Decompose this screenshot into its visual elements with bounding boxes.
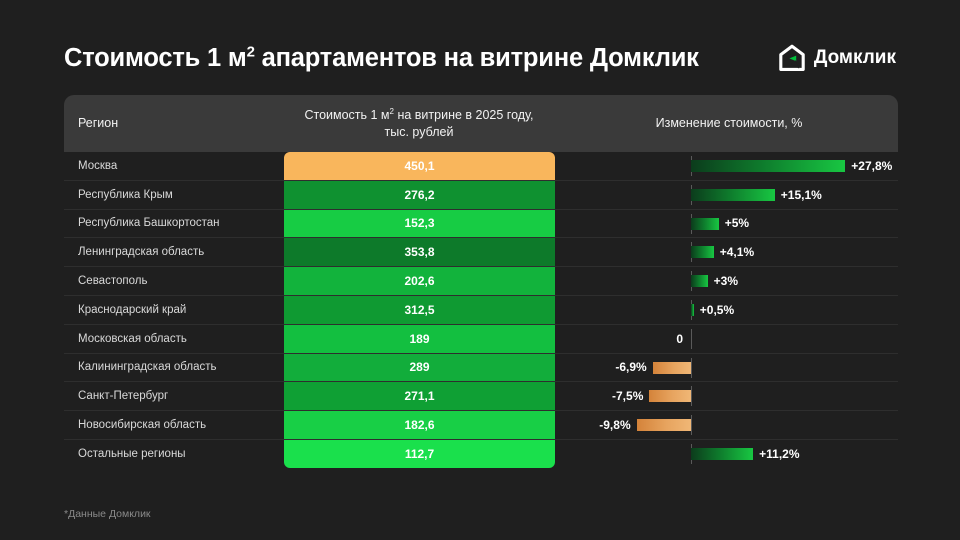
table-body: Москва450,1+27,8%Республика Крым276,2+15… — [64, 152, 898, 468]
cell-value: 450,1 — [284, 152, 555, 180]
brand-logo: Домклик — [778, 44, 896, 72]
page-title-prefix: Стоимость 1 м — [64, 44, 247, 72]
cell-region: Севастополь — [78, 267, 147, 295]
change-percent-label: 0 — [676, 325, 683, 353]
negative-change-bar — [637, 419, 691, 431]
table-row[interactable]: Севастополь202,6+3% — [64, 267, 898, 296]
cell-value: 182,6 — [284, 411, 555, 439]
change-percent-label: -6,9% — [615, 354, 646, 382]
column-header-change: Изменение стоимости, % — [564, 95, 894, 152]
column-header-value: Стоимость 1 м2 на витрине в 2025 году, т… — [284, 95, 554, 152]
cell-value: 271,1 — [284, 382, 555, 410]
positive-change-bar — [691, 160, 845, 172]
cell-value: 202,6 — [284, 267, 555, 295]
infographic-canvas: Стоимость 1 м2 апартаментов на витрине Д… — [0, 0, 960, 540]
cell-region: Санкт-Петербург — [78, 382, 168, 410]
cell-region: Республика Крым — [78, 181, 173, 209]
column-header-value-suffix: на витрине в 2025 году, — [394, 108, 534, 122]
change-percent-label: +4,1% — [720, 238, 754, 266]
column-header-region: Регион — [78, 95, 278, 152]
cell-change: +27,8% — [555, 152, 898, 180]
zero-baseline — [691, 386, 692, 406]
cell-region: Московская область — [78, 325, 187, 353]
cell-value: 112,7 — [284, 440, 555, 468]
cell-change: +3% — [555, 267, 898, 295]
table-header-row: Регион Стоимость 1 м2 на витрине в 2025 … — [64, 95, 898, 152]
table-row[interactable]: Остальные регионы112,7+11,2% — [64, 440, 898, 468]
table-row[interactable]: Московская область1890 — [64, 325, 898, 354]
page-title-superscript: 2 — [247, 43, 255, 60]
cell-change: -6,9% — [555, 354, 898, 382]
cell-value: 152,3 — [284, 210, 555, 238]
page-title: Стоимость 1 м2 апартаментов на витрине Д… — [64, 44, 699, 73]
table-row[interactable]: Краснодарский край312,5+0,5% — [64, 296, 898, 325]
brand-name: Домклик — [814, 47, 896, 69]
footnote: *Данные Домклик — [64, 508, 151, 520]
domclick-house-logo-icon — [778, 44, 806, 72]
positive-change-bar — [691, 218, 719, 230]
cell-change: -7,5% — [555, 382, 898, 410]
positive-change-bar — [691, 275, 708, 287]
positive-change-bar — [691, 448, 753, 460]
cell-region: Ленинградская область — [78, 238, 204, 266]
table-row[interactable]: Ленинградская область353,8+4,1% — [64, 238, 898, 267]
zero-baseline — [691, 358, 692, 378]
data-table: Регион Стоимость 1 м2 на витрине в 2025 … — [64, 95, 898, 463]
change-percent-label: -7,5% — [612, 382, 643, 410]
cell-change: +0,5% — [555, 296, 898, 324]
zero-baseline — [691, 329, 692, 349]
positive-change-bar — [691, 246, 714, 258]
cell-value: 189 — [284, 325, 555, 353]
cell-region: Краснодарский край — [78, 296, 186, 324]
change-percent-label: -9,8% — [599, 411, 630, 439]
cell-region: Республика Башкортостан — [78, 210, 220, 238]
table-row[interactable]: Москва450,1+27,8% — [64, 152, 898, 181]
column-header-value-line2: тыс. рублей — [385, 125, 454, 139]
positive-change-bar — [691, 189, 775, 201]
cell-value: 276,2 — [284, 181, 555, 209]
header-bar: Стоимость 1 м2 апартаментов на витрине Д… — [64, 36, 896, 80]
cell-change: -9,8% — [555, 411, 898, 439]
positive-change-bar — [691, 304, 694, 316]
cell-change: +5% — [555, 210, 898, 238]
table-row[interactable]: Республика Крым276,2+15,1% — [64, 181, 898, 210]
page-title-suffix: апартаментов на витрине Домклик — [255, 44, 699, 72]
change-percent-label: +5% — [725, 210, 749, 238]
table-row[interactable]: Республика Башкортостан152,3+5% — [64, 210, 898, 239]
negative-change-bar — [653, 362, 691, 374]
table-row[interactable]: Новосибирская область182,6-9,8% — [64, 411, 898, 440]
cell-region: Новосибирская область — [78, 411, 206, 439]
cell-value: 312,5 — [284, 296, 555, 324]
change-percent-label: +3% — [714, 267, 738, 295]
change-percent-label: +11,2% — [759, 440, 799, 468]
table-row[interactable]: Санкт-Петербург271,1-7,5% — [64, 382, 898, 411]
zero-baseline — [691, 415, 692, 435]
cell-region: Остальные регионы — [78, 440, 186, 468]
cell-value: 353,8 — [284, 238, 555, 266]
table-row[interactable]: Калининградская область289-6,9% — [64, 354, 898, 383]
negative-change-bar — [649, 390, 691, 402]
column-header-value-prefix: Стоимость 1 м — [304, 108, 389, 122]
change-percent-label: +27,8% — [851, 152, 892, 180]
change-percent-label: +0,5% — [700, 296, 734, 324]
cell-region: Калининградская область — [78, 354, 216, 382]
cell-value: 289 — [284, 354, 555, 382]
change-percent-label: +15,1% — [781, 181, 822, 209]
cell-change: +15,1% — [555, 181, 898, 209]
cell-change: +4,1% — [555, 238, 898, 266]
cell-region: Москва — [78, 152, 117, 180]
cell-change: 0 — [555, 325, 898, 353]
cell-change: +11,2% — [555, 440, 898, 468]
